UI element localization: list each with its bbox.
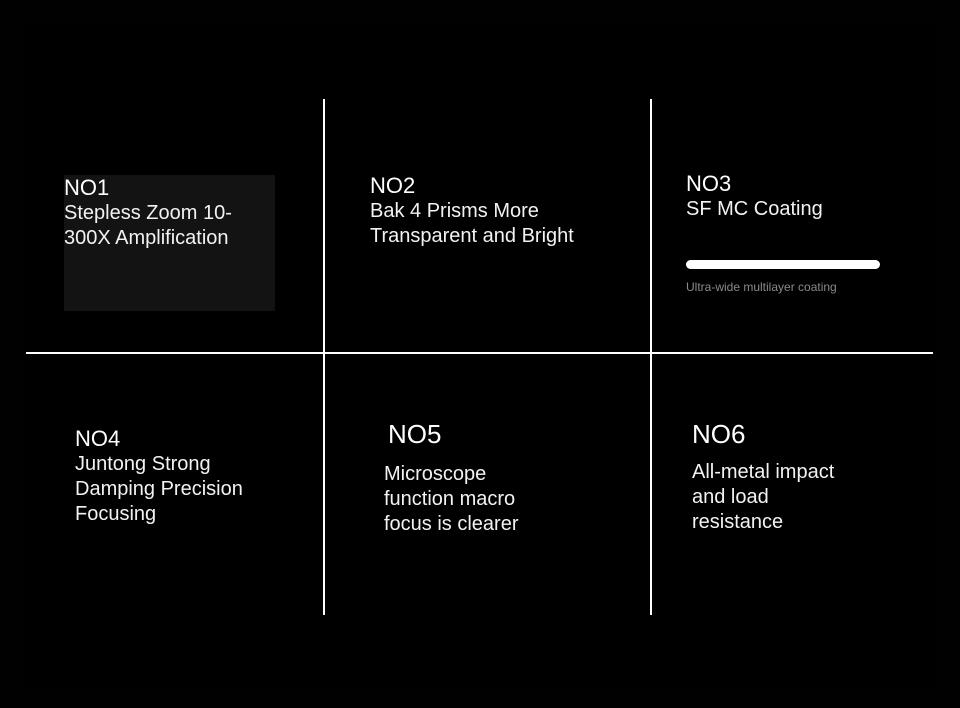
feature-5-text-line-1: Microscope xyxy=(384,462,619,487)
feature-3-number: NO3 xyxy=(686,171,916,197)
feature-cell-5: NO5 Microscope function macro focus is c… xyxy=(384,418,619,537)
feature-cell-6: NO6 All-metal impact and load resistance xyxy=(692,418,912,535)
feature-5-number: NO5 xyxy=(388,418,619,450)
feature-4-number: NO4 xyxy=(75,426,305,452)
vertical-divider-left xyxy=(323,99,325,615)
feature-2-number: NO2 xyxy=(370,173,640,199)
feature-1-number: NO1 xyxy=(64,175,276,201)
feature-6-text-line-3: resistance xyxy=(692,510,912,535)
feature-4-text-line-3: Focusing xyxy=(75,502,305,527)
frame-edge-right xyxy=(934,0,960,708)
feature-2-text-line-2: Transparent and Bright xyxy=(370,224,640,249)
coating-bar-indicator xyxy=(686,260,880,269)
feature-cell-2: NO2 Bak 4 Prisms More Transparent and Br… xyxy=(370,173,640,249)
feature-cell-4: NO4 Juntong Strong Damping Precision Foc… xyxy=(75,426,305,527)
feature-6-text-line-1: All-metal impact xyxy=(692,460,912,485)
feature-1-text-line-1: Stepless Zoom 10- xyxy=(64,201,279,226)
feature-2-text-line-1: Bak 4 Prisms More xyxy=(370,199,640,224)
frame-edge-left xyxy=(0,0,26,708)
horizontal-divider xyxy=(26,352,933,354)
frame-edge-top xyxy=(0,0,960,22)
feature-cell-3: NO3 SF MC Coating Ultra-wide multilayer … xyxy=(686,171,916,295)
feature-4-text-line-1: Juntong Strong xyxy=(75,452,305,477)
frame-edge-bottom xyxy=(0,686,960,708)
feature-1-text-line-2: 300X Amplification xyxy=(64,226,279,251)
feature-grid-page: NO1 Stepless Zoom 10- 300X Amplification… xyxy=(0,0,960,708)
feature-5-text-line-2: function macro xyxy=(384,487,619,512)
feature-5-text-line-3: focus is clearer xyxy=(384,512,619,537)
coating-caption: Ultra-wide multilayer coating xyxy=(686,279,916,295)
vertical-divider-right xyxy=(650,99,652,615)
feature-4-text-line-2: Damping Precision xyxy=(75,477,305,502)
feature-cell-1: NO1 Stepless Zoom 10- 300X Amplification xyxy=(64,175,276,251)
feature-6-number: NO6 xyxy=(692,418,912,450)
feature-3-text: SF MC Coating xyxy=(686,197,916,222)
feature-6-text-line-2: and load xyxy=(692,485,912,510)
